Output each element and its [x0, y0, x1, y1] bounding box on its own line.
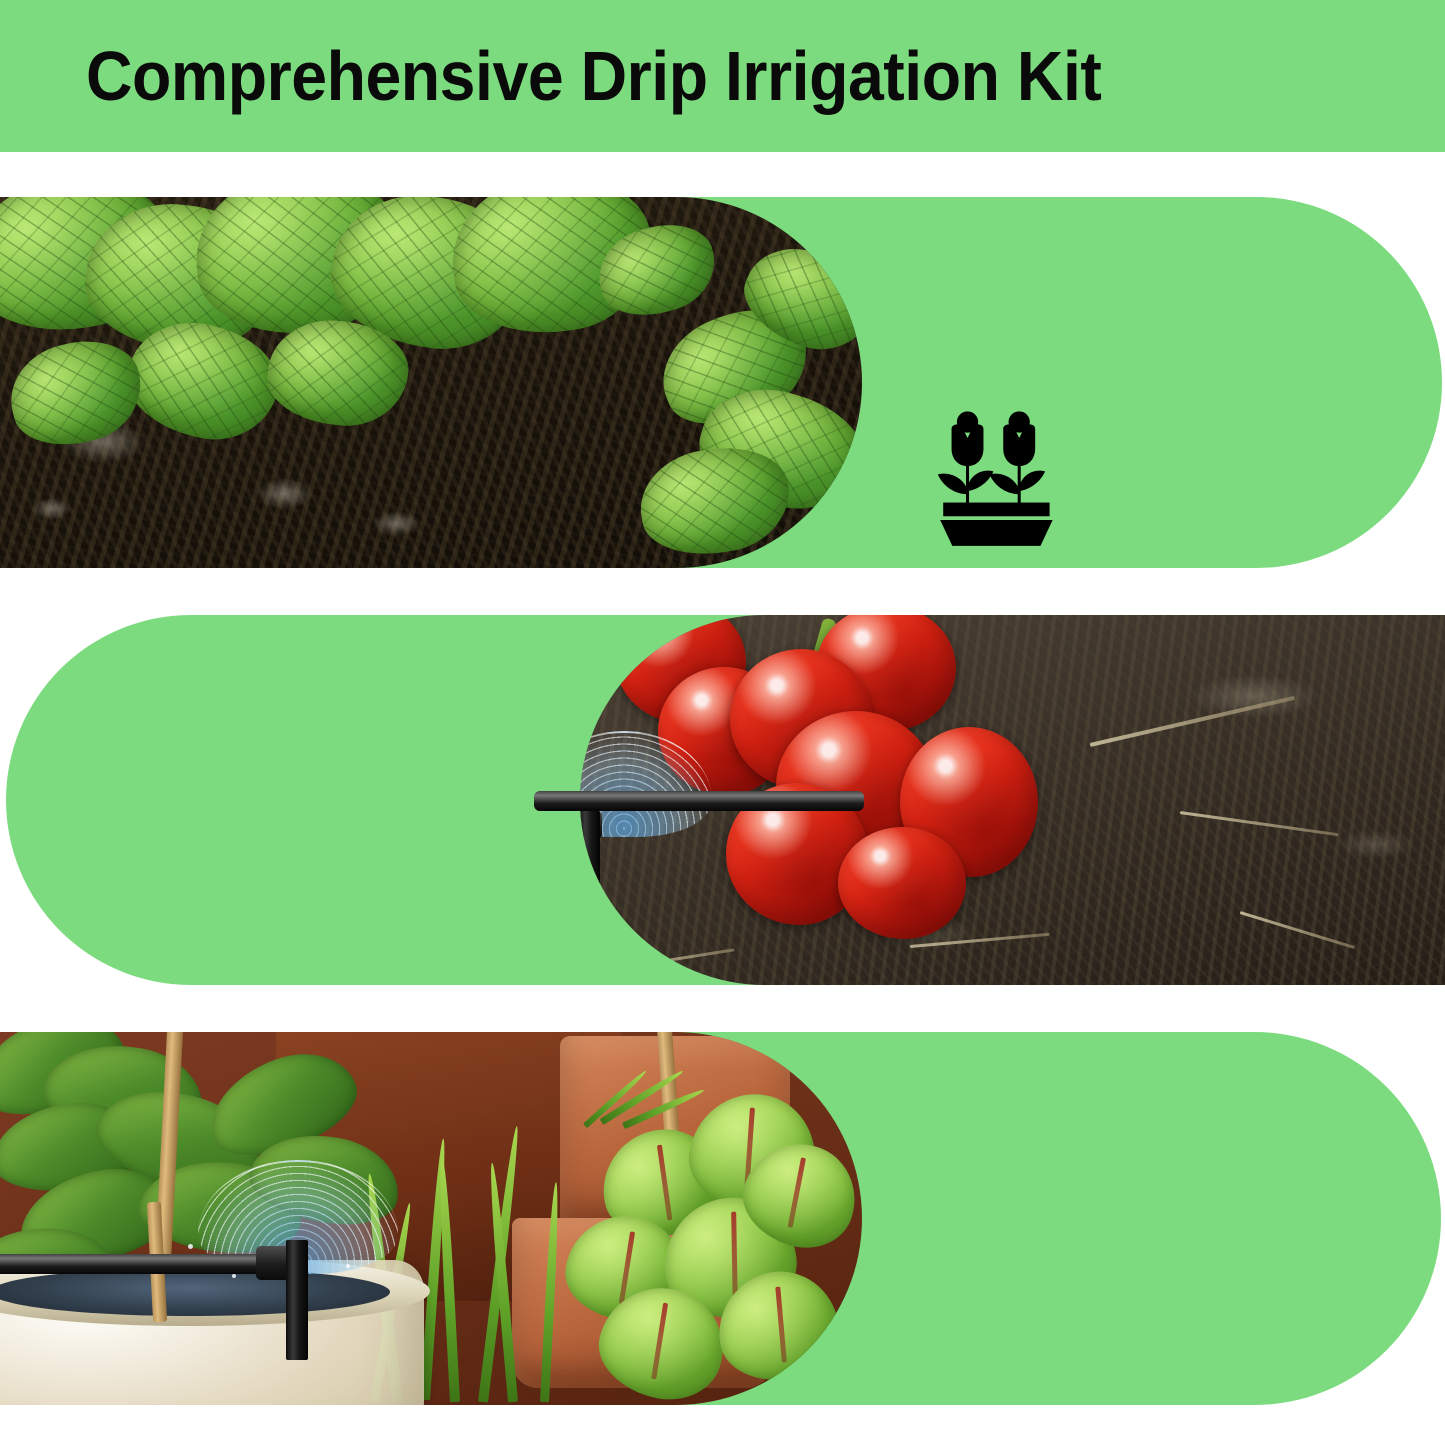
water-droplet	[188, 1244, 193, 1249]
water-droplet	[232, 1274, 236, 1278]
two-tulips-in-planter-box-icon	[928, 403, 1080, 555]
feature-raised-beds: UP TO 9 RAISED BEDS	[920, 403, 1319, 568]
raised-bed-celery-drip-emitter-photo	[0, 197, 862, 568]
container-garden-drip-emitter-photo	[0, 1032, 862, 1405]
photo-canvas	[0, 197, 862, 568]
drip-hose	[0, 1254, 270, 1274]
photo-canvas	[0, 1032, 862, 1405]
feature-panel-square-feet: UP TO 300 SQARE FEET	[6, 615, 1445, 985]
header-band: Comprehensive Drip Irrigation Kit	[0, 0, 1445, 152]
emitter-stake	[286, 1240, 308, 1360]
pot-interior	[0, 1268, 390, 1316]
infographic-page: Comprehensive Drip Irrigation Kit	[0, 0, 1445, 1445]
drip-hose	[534, 791, 864, 811]
feature-panel-raised-beds: UP TO 9 RAISED BEDS	[0, 197, 1442, 568]
page-title: Comprehensive Drip Irrigation Kit	[86, 41, 1101, 111]
emitter-stake	[580, 811, 600, 911]
tomato-fruit	[838, 827, 966, 939]
emitter-collar	[256, 1246, 290, 1280]
water-droplet	[346, 1264, 350, 1268]
feature-panel-pots-covered: UP TO 82 POTS COVERED	[0, 1032, 1441, 1405]
